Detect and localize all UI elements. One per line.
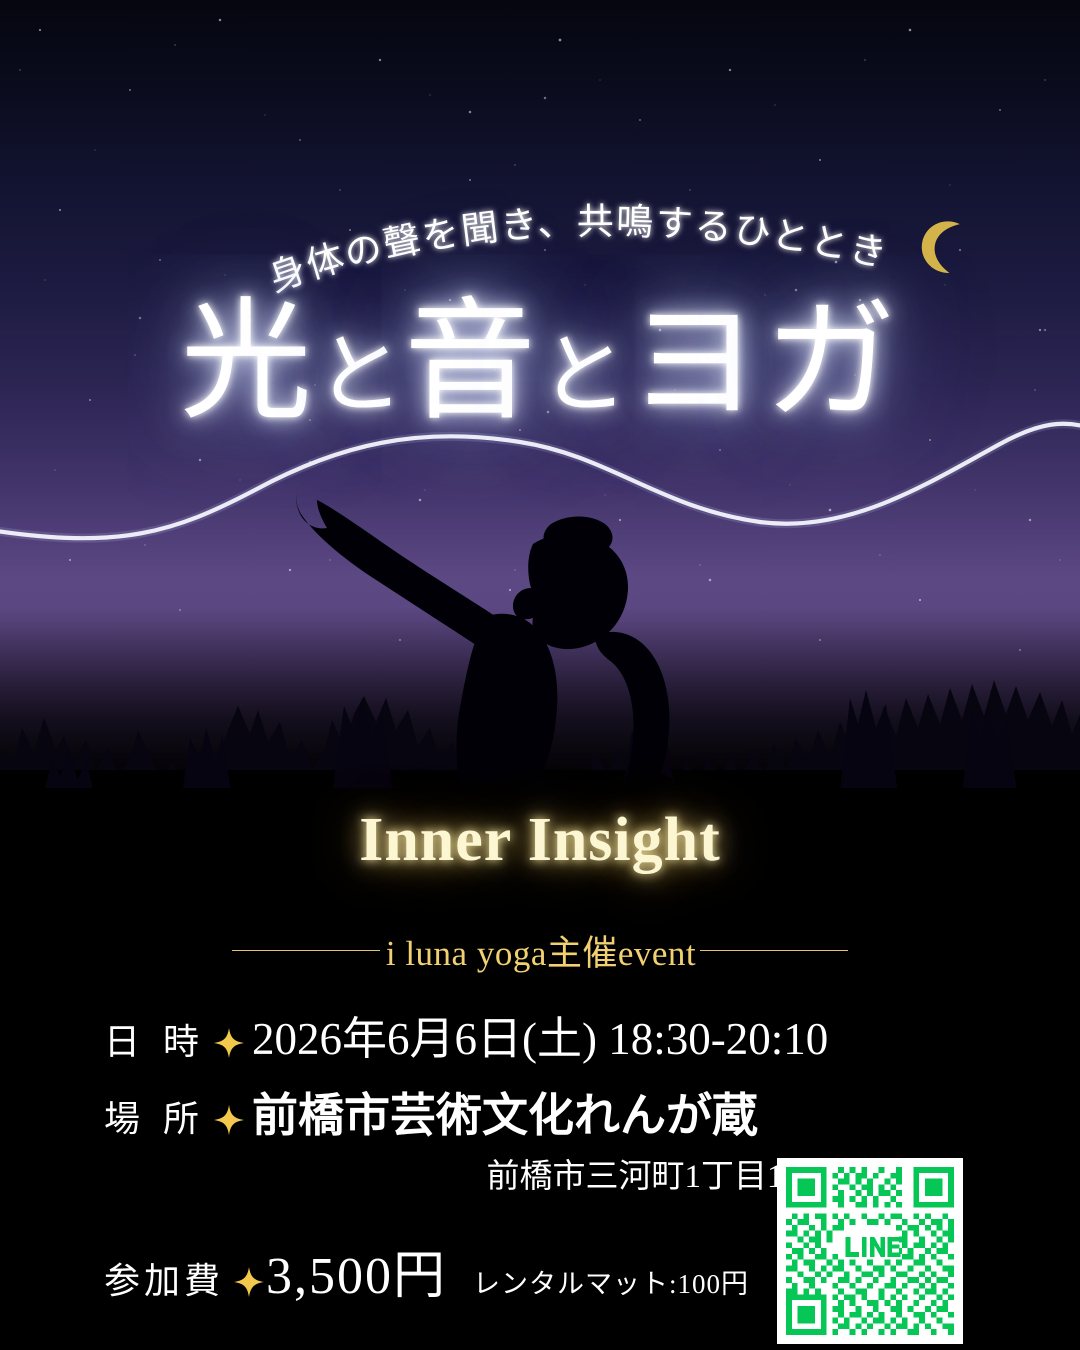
host-rule-left: [232, 950, 380, 951]
qr-code-matrix: [786, 1167, 954, 1335]
row-datetime: 日 時 2026年6月6日(土) 18:30-20:10: [0, 1002, 1080, 1067]
event-flyer: 身体の聲を聞き、共鳴するひととき 光と音とヨガ: [0, 0, 1080, 1350]
datetime-value: 2026年6月6日(土) 18:30-20:10: [252, 1002, 828, 1067]
fee-label: 参加費: [104, 1252, 224, 1304]
row-place: 場 所 前橋市芸術文化れんが蔵: [0, 1079, 1080, 1145]
fee-note: レンタルマット:100円: [473, 1262, 749, 1301]
sparkle-star-icon: [214, 1105, 244, 1135]
sparkle-star-icon: [214, 1028, 244, 1058]
sparkle-star-icon: [234, 1267, 264, 1297]
host-label: i luna yoga主催event: [386, 925, 696, 976]
host-banner: i luna yoga主催event: [0, 925, 1080, 976]
place-value: 前橋市芸術文化れんが蔵: [252, 1079, 758, 1145]
datetime-label: 日 時: [104, 1013, 206, 1065]
place-label: 場 所: [104, 1090, 206, 1142]
brand-subtitle: Inner Insight: [0, 805, 1080, 876]
host-rule-right: [700, 950, 848, 951]
fee-amount: 3,500円: [266, 1233, 447, 1308]
line-qr-code[interactable]: [777, 1158, 963, 1344]
